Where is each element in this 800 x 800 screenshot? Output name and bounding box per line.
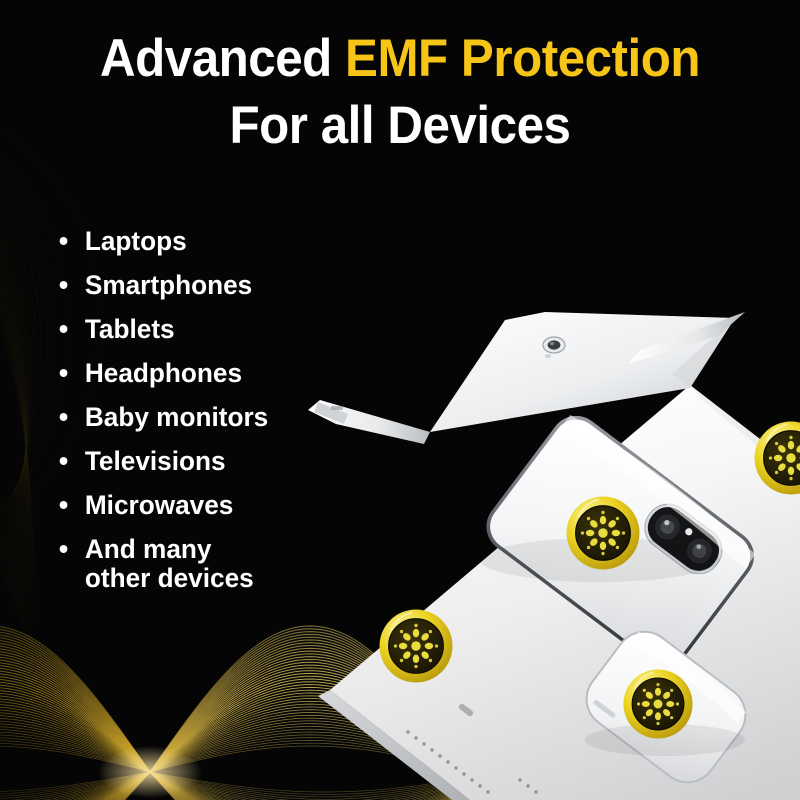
emf-sticker-on-phone (565, 495, 641, 571)
device-list-item: Laptops (48, 228, 368, 255)
bullet-dot-icon (60, 457, 68, 465)
bullet-dot-icon (60, 281, 68, 289)
emf-sticker-on-tablet-left (378, 608, 454, 684)
device-list-item-label: Televisions (85, 446, 226, 476)
emf-sticker-on-earbud-case (622, 668, 694, 740)
bullet-dot-icon (60, 413, 68, 421)
emf-sticker-on-tablet-right (753, 420, 800, 496)
bullet-dot-icon (60, 325, 68, 333)
device-list-item-label: And many (85, 534, 212, 564)
device-list-item-label-line2: other devices (85, 565, 368, 592)
promo-banner: Advanced EMF Protection For all Devices … (0, 0, 800, 800)
device-list-item-label: Microwaves (85, 490, 233, 520)
device-list-item: Televisions (48, 448, 368, 475)
device-list-item-label: Smartphones (85, 270, 252, 300)
headline-line-1: Advanced EMF Protection (28, 32, 772, 85)
device-list: LaptopsSmartphonesTabletsHeadphonesBaby … (48, 228, 378, 592)
device-list-item: Baby monitors (48, 404, 368, 431)
headline-block: Advanced EMF Protection For all Devices (0, 32, 800, 152)
bullet-dot-icon (60, 369, 68, 377)
device-list-item: And manyother devices (48, 536, 368, 592)
headline-line-2: For all Devices (28, 99, 772, 152)
device-list-item-label: Headphones (85, 358, 242, 388)
bullet-dot-icon (60, 237, 68, 245)
device-list-item: Microwaves (48, 492, 368, 519)
device-list-item: Smartphones (48, 272, 368, 299)
device-list-item: Tablets (48, 316, 368, 343)
headline-highlight-text: EMF Protection (345, 29, 700, 88)
device-list-item-label: Laptops (85, 226, 187, 256)
device-list-item: Headphones (48, 360, 368, 387)
bullet-dot-icon (60, 501, 68, 509)
device-list-item-label: Baby monitors (85, 402, 268, 432)
device-list-item-label: Tablets (85, 314, 175, 344)
bullet-dot-icon (60, 545, 68, 553)
headline-plain-text: Advanced (100, 29, 345, 88)
